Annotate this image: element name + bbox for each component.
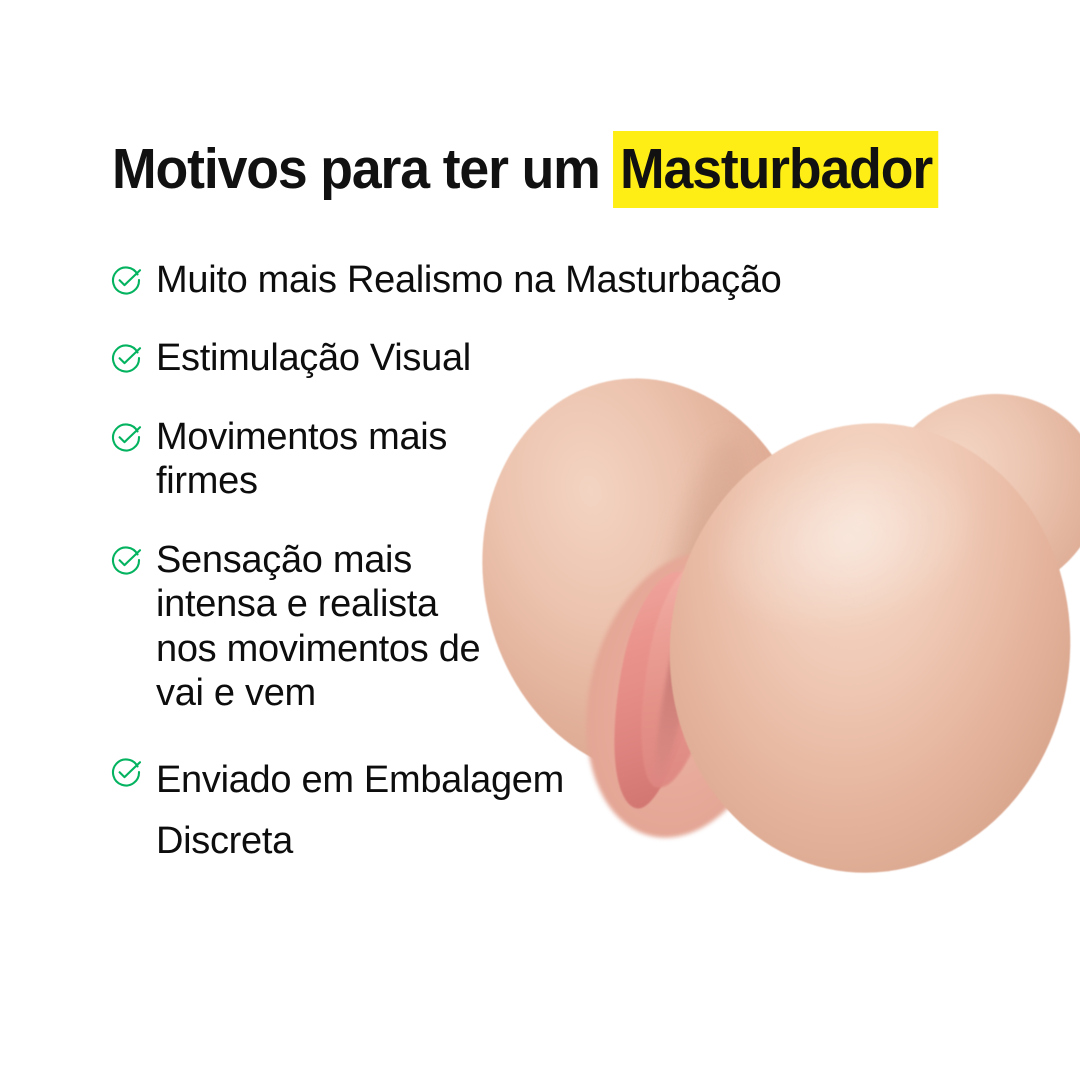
list-item: Sensação mais intensa e realista nos mov…	[110, 538, 930, 716]
list-item-label: Muito mais Realismo na Masturbação	[156, 258, 782, 302]
page-title-highlight: Masturbador	[613, 131, 938, 208]
list-item-label: Estimulação Visual	[156, 336, 471, 380]
page-title: Motivos para ter um Masturbador	[112, 138, 939, 201]
list-item-label: Enviado em Embalagem Discreta	[156, 750, 564, 873]
list-item-label: Sensação mais intensa e realista nos mov…	[156, 538, 480, 716]
check-circle-icon	[110, 336, 156, 374]
check-circle-icon	[110, 538, 156, 576]
benefits-list: Muito mais Realismo na Masturbação Estim…	[110, 258, 930, 907]
check-circle-icon	[110, 750, 156, 788]
check-circle-icon	[110, 258, 156, 296]
page-title-plain: Motivos para ter um	[112, 137, 613, 201]
list-item: Estimulação Visual	[110, 336, 930, 380]
list-item: Movimentos mais firmes	[110, 415, 930, 504]
check-circle-icon	[110, 415, 156, 453]
promo-card: Motivos para ter um Masturbador Muito ma…	[0, 0, 1080, 1080]
list-item: Muito mais Realismo na Masturbação	[110, 258, 930, 302]
list-item: Enviado em Embalagem Discreta	[110, 750, 930, 873]
list-item-label: Movimentos mais firmes	[156, 415, 447, 504]
